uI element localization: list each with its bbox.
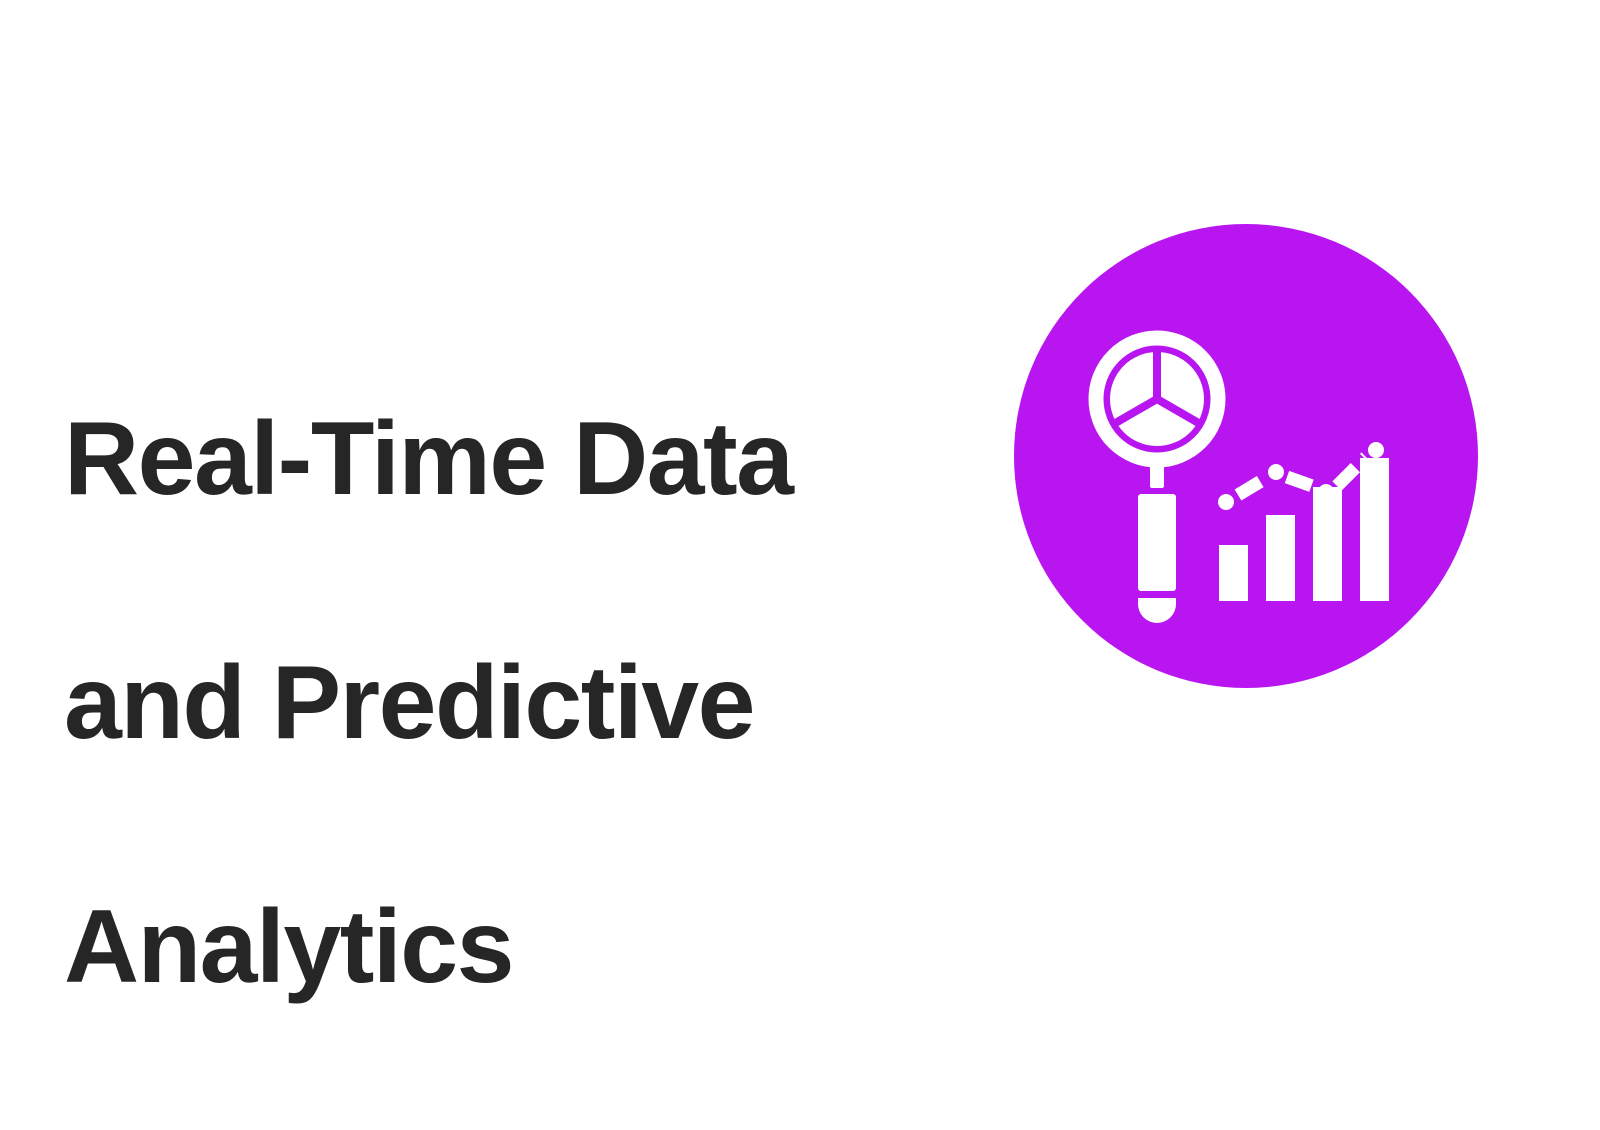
magnifier-handle-icon bbox=[1138, 464, 1176, 623]
trend-point-1 bbox=[1218, 494, 1234, 510]
bar-4 bbox=[1360, 458, 1389, 601]
bar-3 bbox=[1313, 487, 1342, 601]
page-title-line-1: Real-Time Data bbox=[64, 398, 944, 520]
analytics-badge bbox=[1014, 224, 1478, 688]
page-title-line-2: and Predictive bbox=[64, 642, 944, 764]
page-title-line-3: Analytics bbox=[64, 886, 944, 1008]
bar-2 bbox=[1266, 515, 1295, 601]
slide-canvas: Real-Time Data and Predictive Analytics bbox=[0, 0, 1600, 900]
trend-point-3 bbox=[1318, 484, 1334, 500]
magnifier-lens-pie-chart-icon bbox=[1096, 338, 1218, 460]
trend-point-2 bbox=[1268, 464, 1284, 480]
magnifier-pie-chart-with-bar-chart-icon bbox=[1014, 224, 1478, 688]
trend-dash-1 bbox=[1238, 478, 1266, 495]
heading-block: Real-Time Data and Predictive Analytics bbox=[64, 276, 944, 1130]
bar-1 bbox=[1219, 545, 1248, 601]
trend-line-dashes bbox=[1238, 457, 1366, 495]
page-title: Real-Time Data and Predictive Analytics bbox=[64, 276, 944, 1130]
trend-point-4 bbox=[1368, 442, 1384, 458]
trend-dash-2 bbox=[1287, 477, 1315, 487]
